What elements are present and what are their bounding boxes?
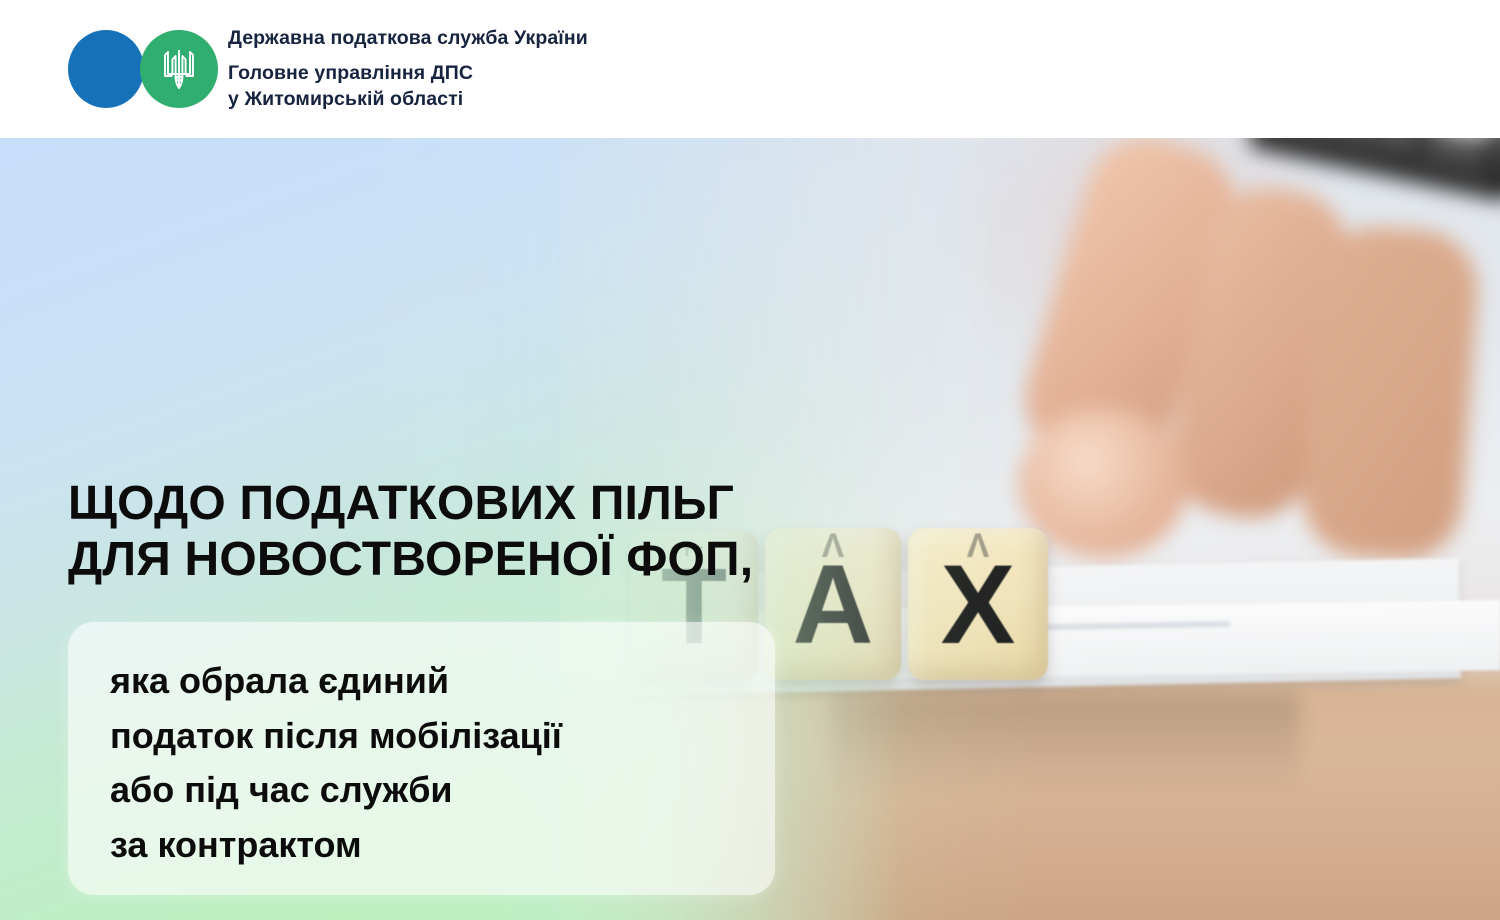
logo-green-circle-icon [140,30,218,108]
page-title: ЩОДО ПОДАТКОВИХ ПІЛЬГ ДЛЯ НОВОСТВОРЕНОЇ … [68,476,753,588]
org-name-line-2: Головне управління ДПС [228,60,588,86]
banner: ⌐ T Ʌ A Λ X ЩОДО ПОДАТКОВИХ ПІЛЬГ ДЛЯ НО… [0,138,1500,920]
poster-page: Державна податкова служба України Головн… [0,0,1500,920]
hand-with-pen-image [1000,138,1500,518]
dps-logo [68,30,216,108]
logo-blue-circle-icon [68,30,144,108]
finger [1299,223,1482,563]
trident-icon [163,46,195,92]
org-title-block: Державна податкова служба України Головн… [228,26,588,112]
header-bar: Державна податкова служба України Головн… [0,0,1500,138]
pen-tip-icon [1368,138,1439,169]
org-name-line-3: у Житомирській області [228,86,588,112]
org-name-line-1: Державна податкова служба України [228,26,588,51]
subtitle-text: яка обрала єдиний податок після мобіліза… [110,654,770,873]
